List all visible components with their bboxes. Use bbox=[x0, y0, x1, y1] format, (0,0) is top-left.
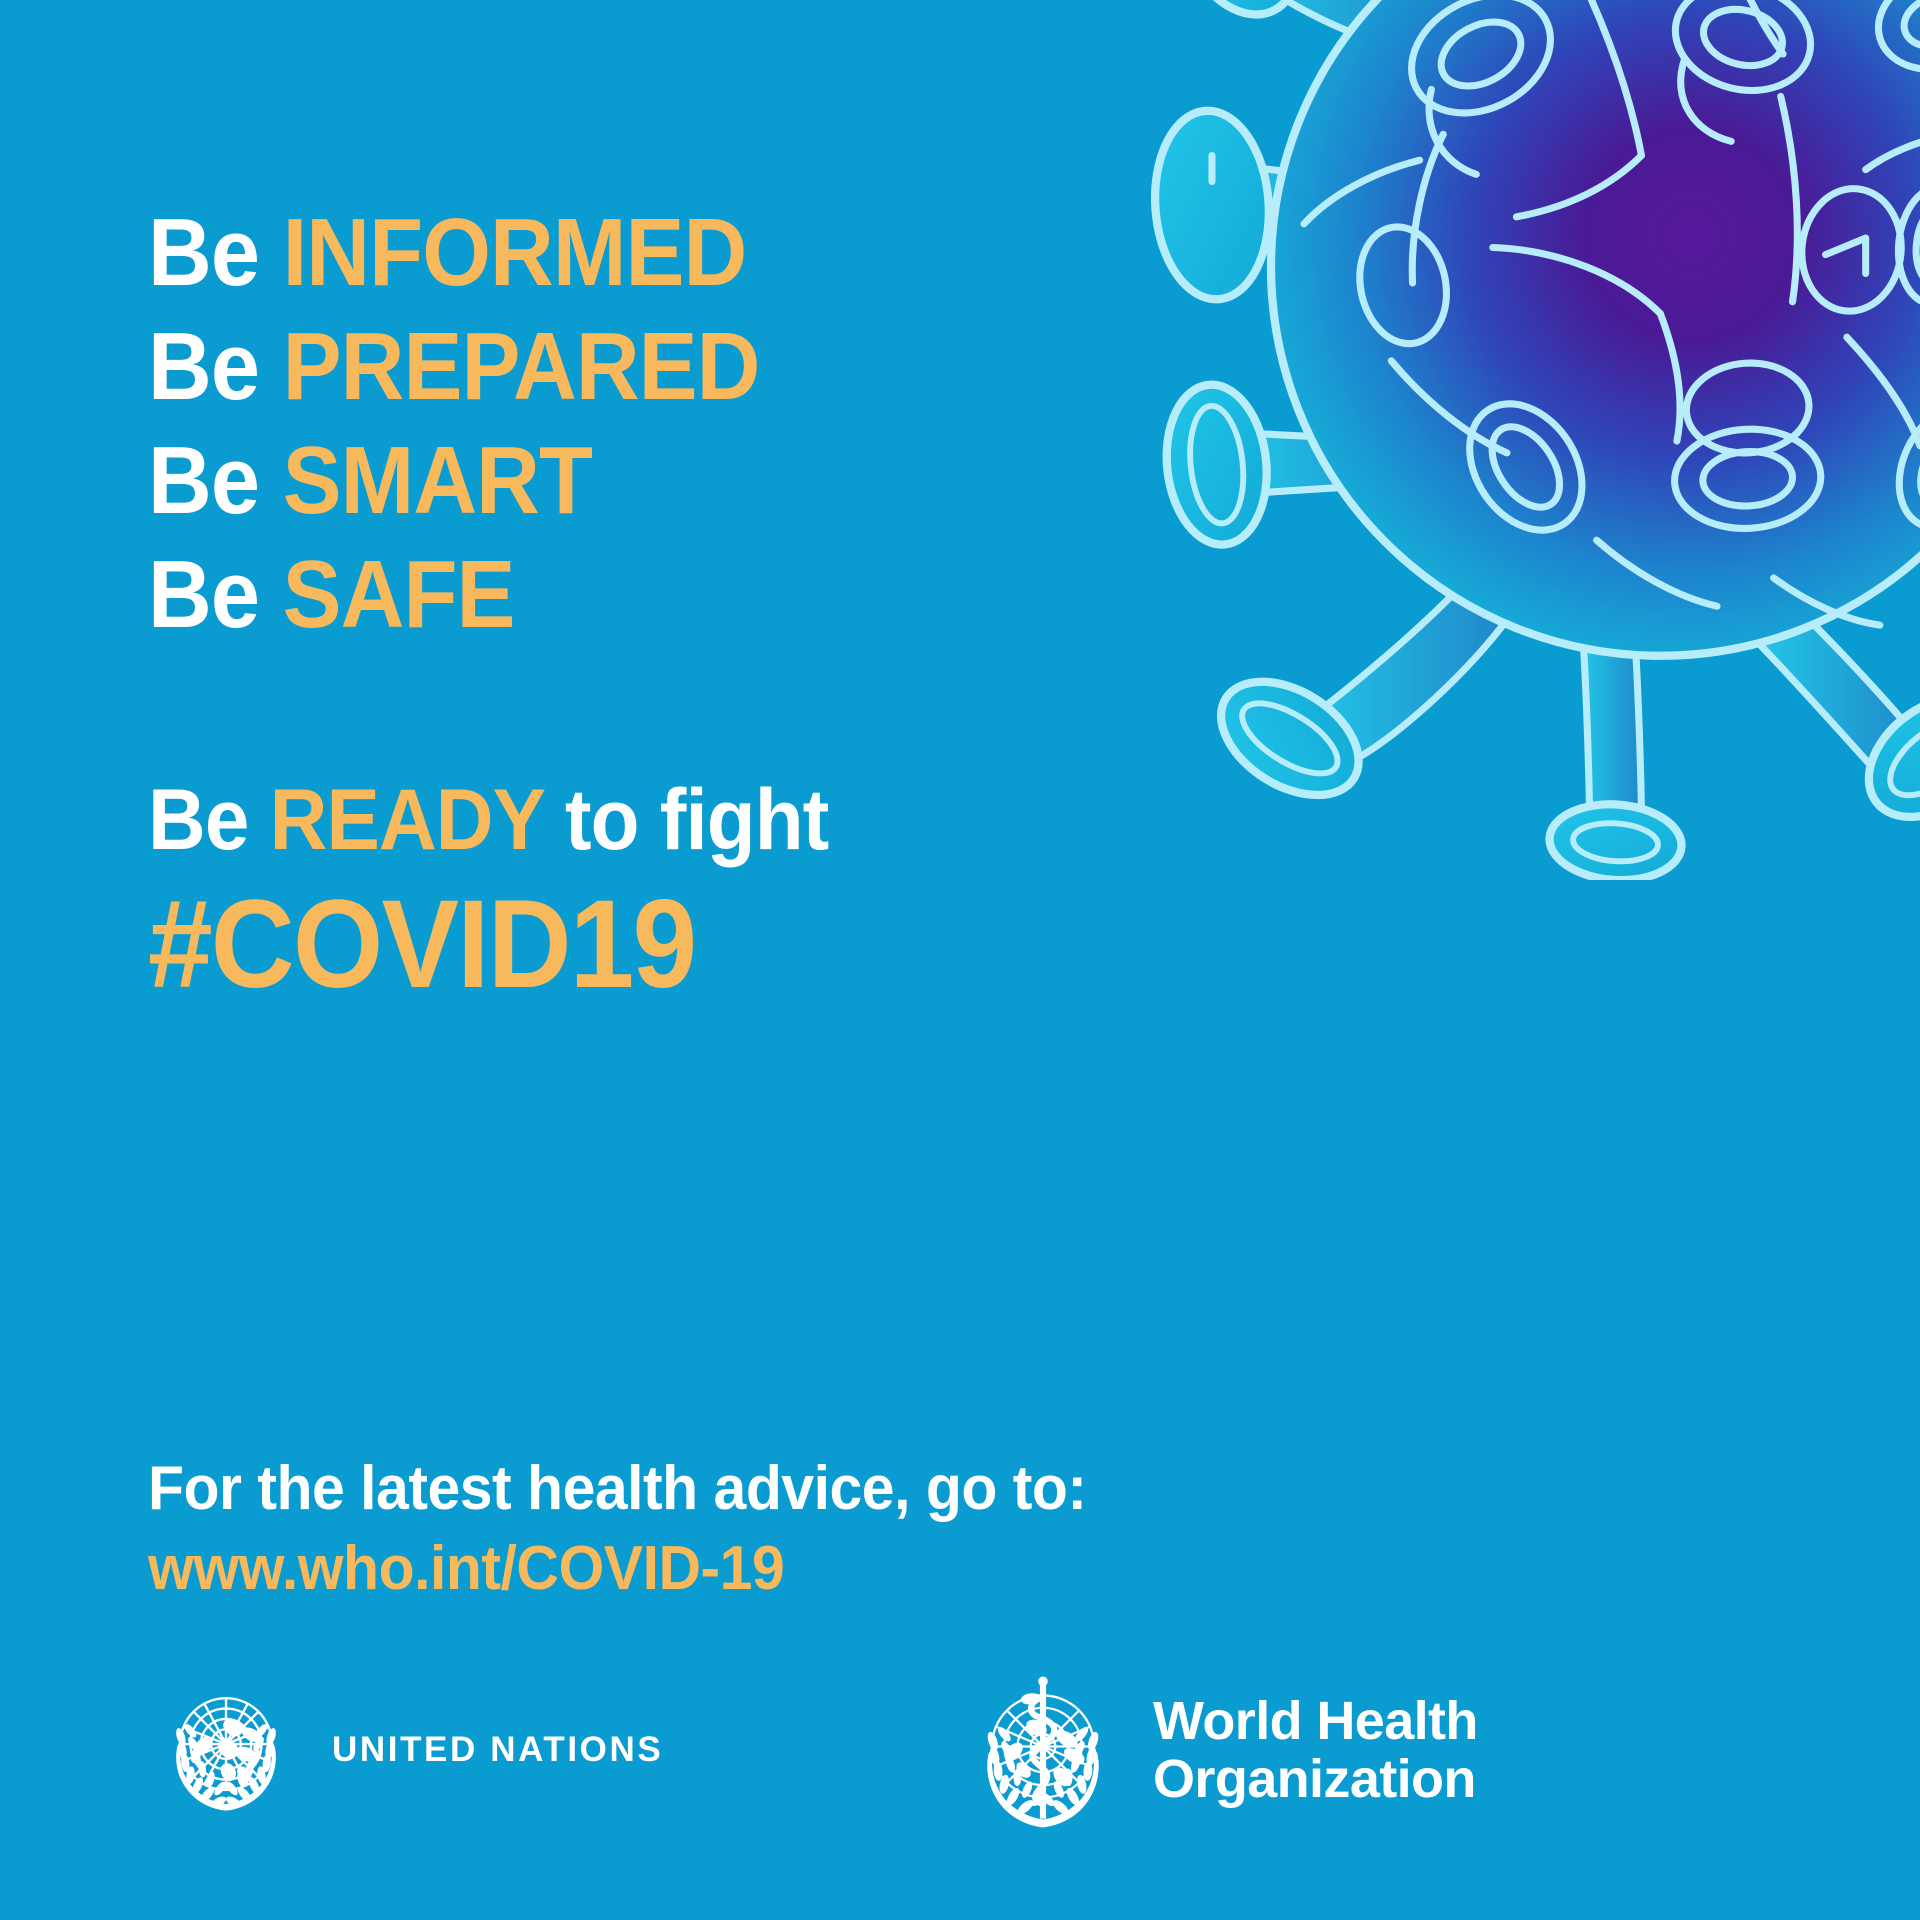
slogan-line: Be SMART bbox=[148, 424, 1068, 538]
slogan-line: Be INFORMED bbox=[148, 196, 1068, 310]
slogan-keyword-prepared: PREPARED bbox=[283, 313, 760, 420]
slogan-keyword-smart: SMART bbox=[283, 427, 592, 534]
world-health-organization-emblem bbox=[955, 1662, 1131, 1838]
who-wordmark: World Health Organization bbox=[1153, 1692, 1478, 1808]
ready-line: Be READY to fight bbox=[148, 772, 1171, 868]
footer-logos: UNITED NATIONS bbox=[0, 1640, 1920, 1920]
ready-block: Be READY to fight #COVID19 bbox=[148, 772, 1248, 1014]
slogan-keyword-safe: SAFE bbox=[283, 541, 515, 648]
advice-url-link[interactable]: www.who.int/COVID-19 bbox=[148, 1532, 1288, 1606]
united-nations-wordmark: UNITED NATIONS bbox=[332, 1730, 663, 1770]
ready-prefix: Be bbox=[148, 772, 248, 868]
world-health-organization-logo: World Health Organization bbox=[955, 1662, 1478, 1838]
slogan-line: Be PREPARED bbox=[148, 310, 1068, 424]
who-wordmark-line2: Organization bbox=[1153, 1750, 1478, 1808]
slogan-block: Be INFORMED Be PREPARED Be SMART Be SAFE bbox=[148, 196, 1148, 652]
covid-hashtag: #COVID19 bbox=[148, 876, 1171, 1014]
ready-keyword: READY bbox=[270, 772, 544, 868]
slogan-prefix: Be bbox=[148, 541, 259, 648]
slogan-prefix: Be bbox=[148, 313, 259, 420]
advice-block: For the latest health advice, go to: www… bbox=[148, 1452, 1348, 1606]
slogan-line: Be SAFE bbox=[148, 538, 1068, 652]
united-nations-emblem bbox=[152, 1676, 300, 1824]
who-wordmark-line1: World Health bbox=[1153, 1692, 1478, 1750]
poster-canvas: Be INFORMED Be PREPARED Be SMART Be SAFE… bbox=[0, 0, 1920, 1920]
ready-suffix: to fight bbox=[565, 772, 828, 868]
slogan-prefix: Be bbox=[148, 199, 259, 306]
advice-text: For the latest health advice, go to: bbox=[148, 1452, 1288, 1526]
slogan-keyword-informed: INFORMED bbox=[283, 199, 747, 306]
united-nations-logo: UNITED NATIONS bbox=[152, 1676, 663, 1824]
slogan-prefix: Be bbox=[148, 427, 259, 534]
